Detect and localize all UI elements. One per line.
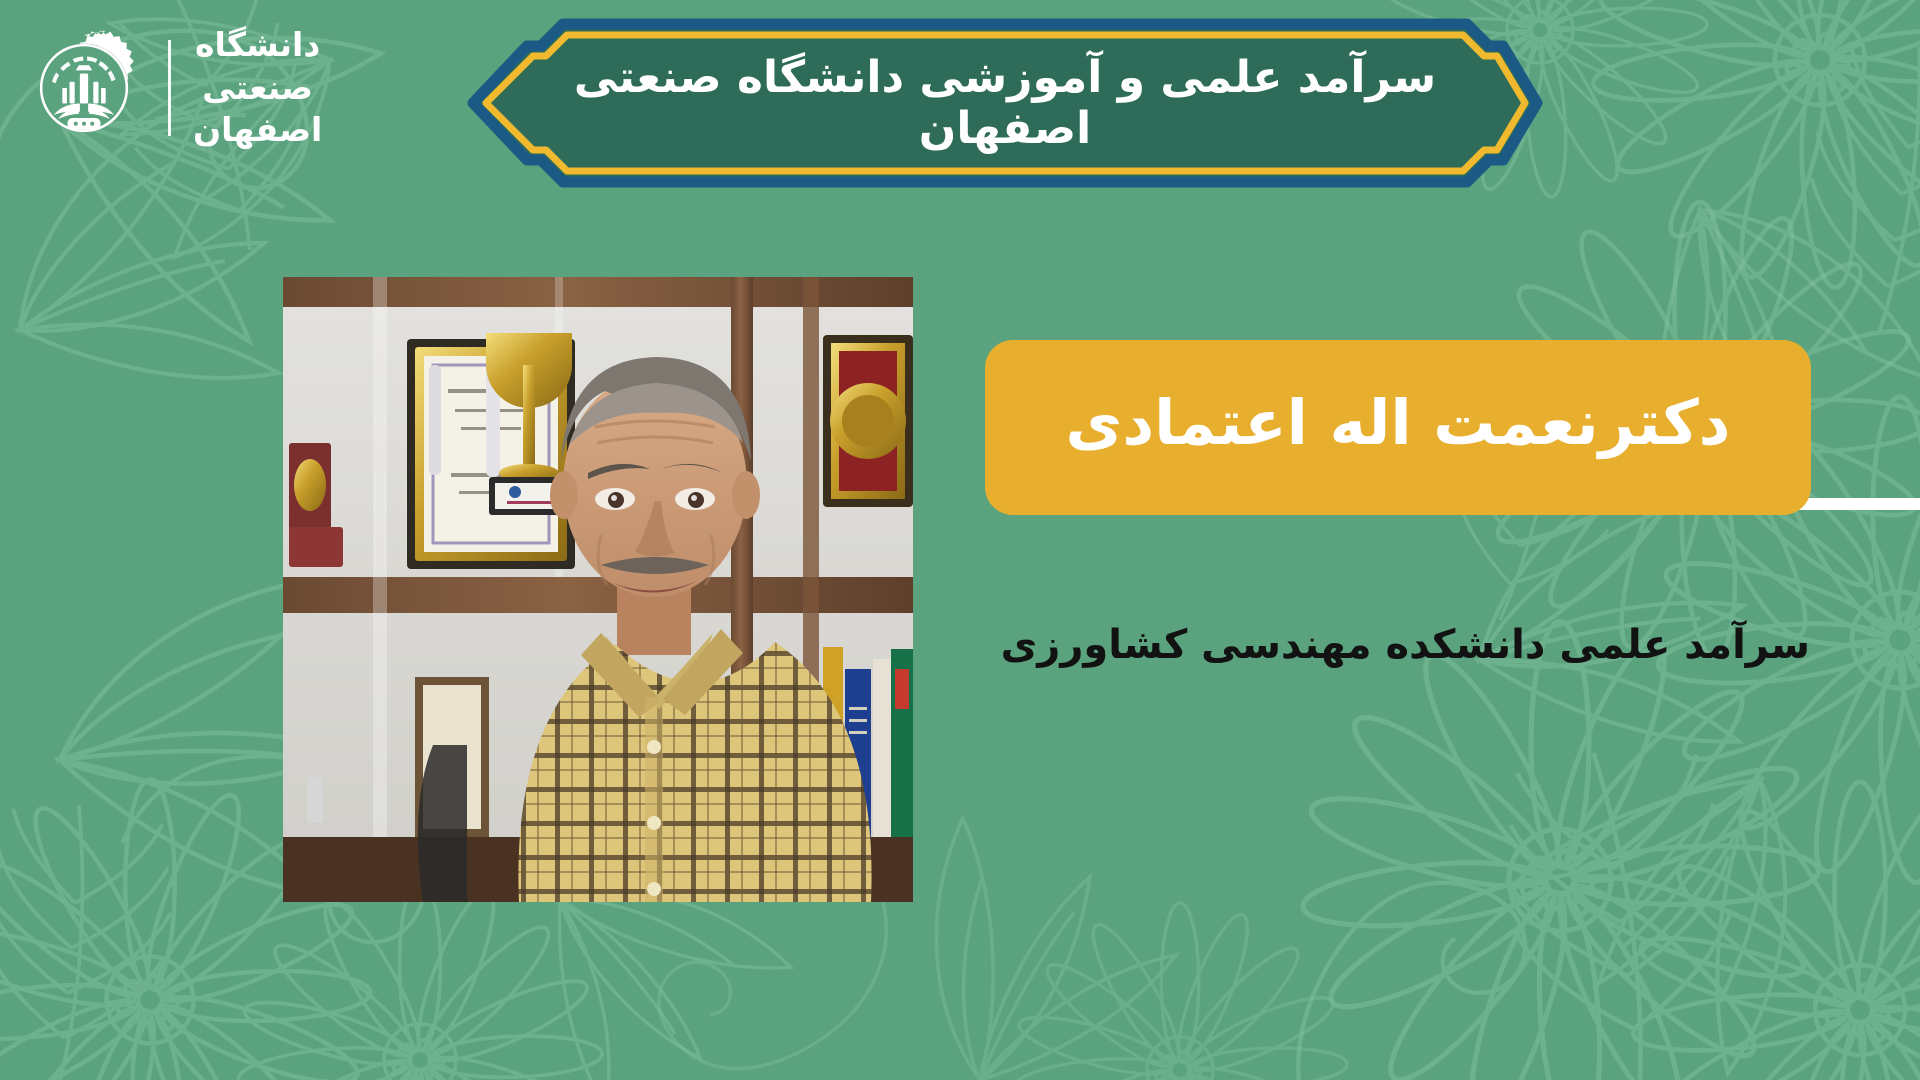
brand-divider — [168, 40, 171, 136]
university-brand-block: دانشگاه صنعتی اصفهان — [18, 18, 348, 158]
title-ribbon: سرآمد علمی و آموزشی دانشگاه صنعتی اصفهان — [455, 18, 1555, 188]
scholar-nameplate: دکترنعمت اله اعتمادی — [985, 340, 1811, 515]
university-seal-icon — [22, 26, 146, 150]
poster-canvas: دانشگاه صنعتی اصفهان سرآمد علمی و آموزشی… — [0, 0, 1920, 1080]
scholar-name: دکترنعمت اله اعتمادی — [1066, 392, 1731, 454]
scholar-portrait-photo — [283, 277, 913, 902]
ribbon-title-text: سرآمد علمی و آموزشی دانشگاه صنعتی اصفهان — [455, 18, 1555, 188]
university-name: دانشگاه صنعتی اصفهان — [193, 24, 322, 153]
scholar-role-subtitle: سرآمد علمی دانشکده مهندسی کشاورزی — [1020, 620, 1810, 670]
